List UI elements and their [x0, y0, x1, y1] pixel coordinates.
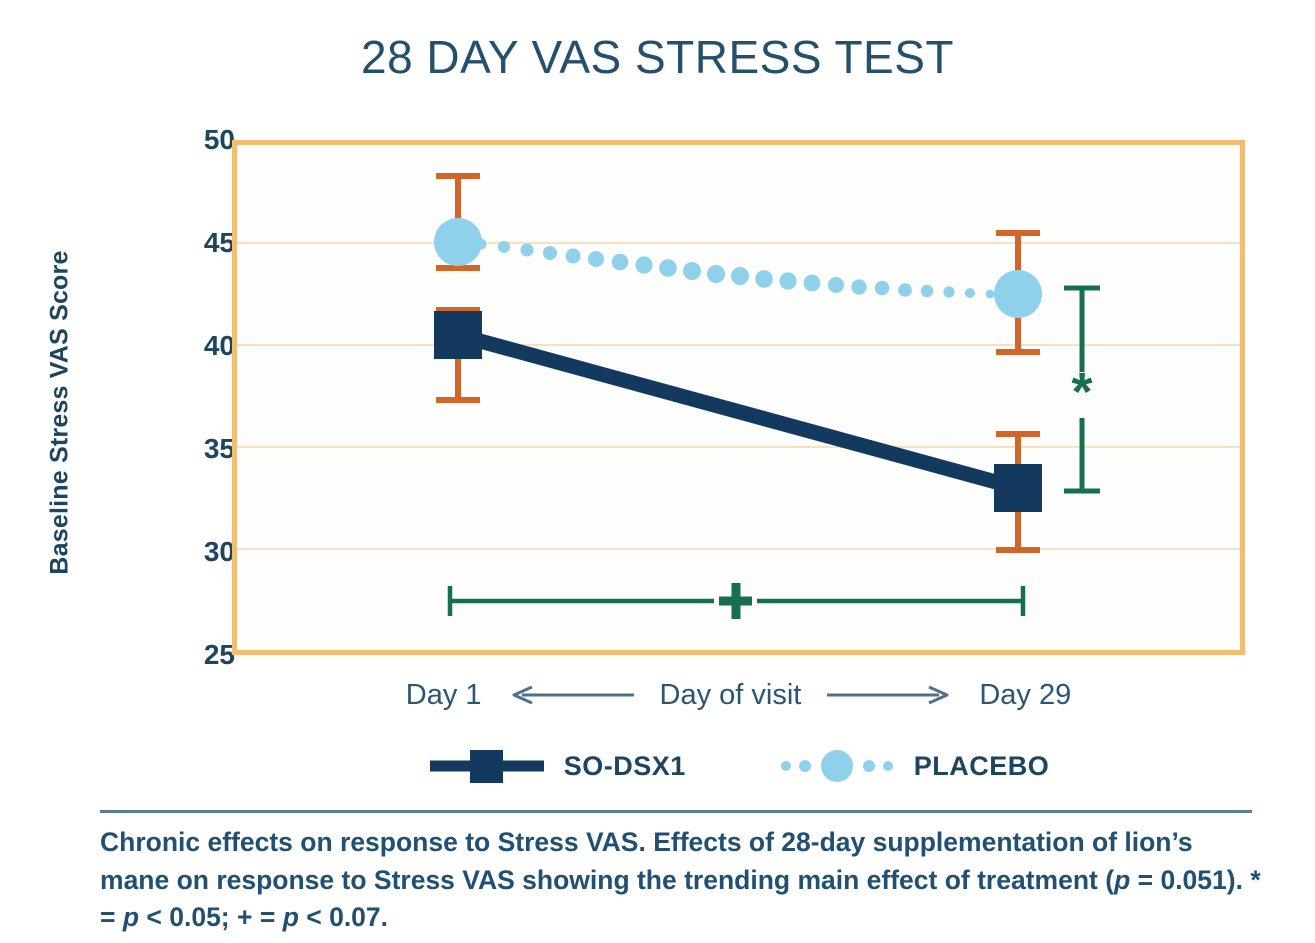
page-title: 28 DAY VAS STRESS TEST: [0, 30, 1315, 84]
x-label-day1: Day 1: [406, 679, 482, 712]
caption-p-italic-3: p: [283, 902, 299, 932]
plot-area: [232, 140, 1245, 655]
legend-label-placebo: PLACEBO: [914, 751, 1050, 782]
left-arrow-icon: [508, 684, 634, 706]
gridline-45: [237, 242, 1240, 244]
gridline-35: [237, 446, 1240, 448]
x-axis-row: Day 1 Day of visit Day 29: [232, 672, 1245, 718]
caption-line-3-c: < 0.05; + =: [139, 902, 283, 932]
x-label-day-of-visit: Day of visit: [660, 679, 802, 712]
legend-item-placebo[interactable]: PLACEBO: [778, 746, 1050, 786]
legend-circle-marker-icon: [778, 746, 896, 786]
gridline-30: [237, 548, 1240, 550]
y-tick-50: 50: [115, 126, 235, 154]
legend-square-marker-icon: [428, 746, 546, 786]
chart-legend: SO-DSX1 PLACEBO: [232, 740, 1245, 792]
caption-divider: [100, 810, 1252, 813]
figure-caption: Chronic effects on response to Stress VA…: [100, 824, 1262, 937]
y-tick-30: 30: [115, 538, 235, 566]
chart-page: 28 DAY VAS STRESS TEST Baseline Stress V…: [0, 0, 1315, 943]
caption-line-1: Chronic effects on response to Stress VA…: [100, 827, 1085, 857]
y-tick-25: 25: [115, 641, 235, 669]
legend-label-so-dsx1: SO-DSX1: [564, 751, 686, 782]
y-axis-title: Baseline Stress VAS Score: [46, 203, 75, 623]
gridline-40: [237, 344, 1240, 346]
caption-line-3-d: < 0.07.: [299, 902, 388, 932]
caption-p-italic-1: p: [1114, 865, 1130, 895]
caption-p-italic-2: p: [123, 902, 139, 932]
caption-line-3-a: treatment (: [977, 865, 1114, 895]
x-label-day29: Day 29: [979, 679, 1071, 712]
y-tick-35: 35: [115, 435, 235, 463]
right-arrow-icon: [827, 684, 953, 706]
legend-item-so-dsx1[interactable]: SO-DSX1: [428, 746, 686, 786]
y-tick-40: 40: [115, 332, 235, 360]
y-tick-45: 45: [115, 229, 235, 257]
